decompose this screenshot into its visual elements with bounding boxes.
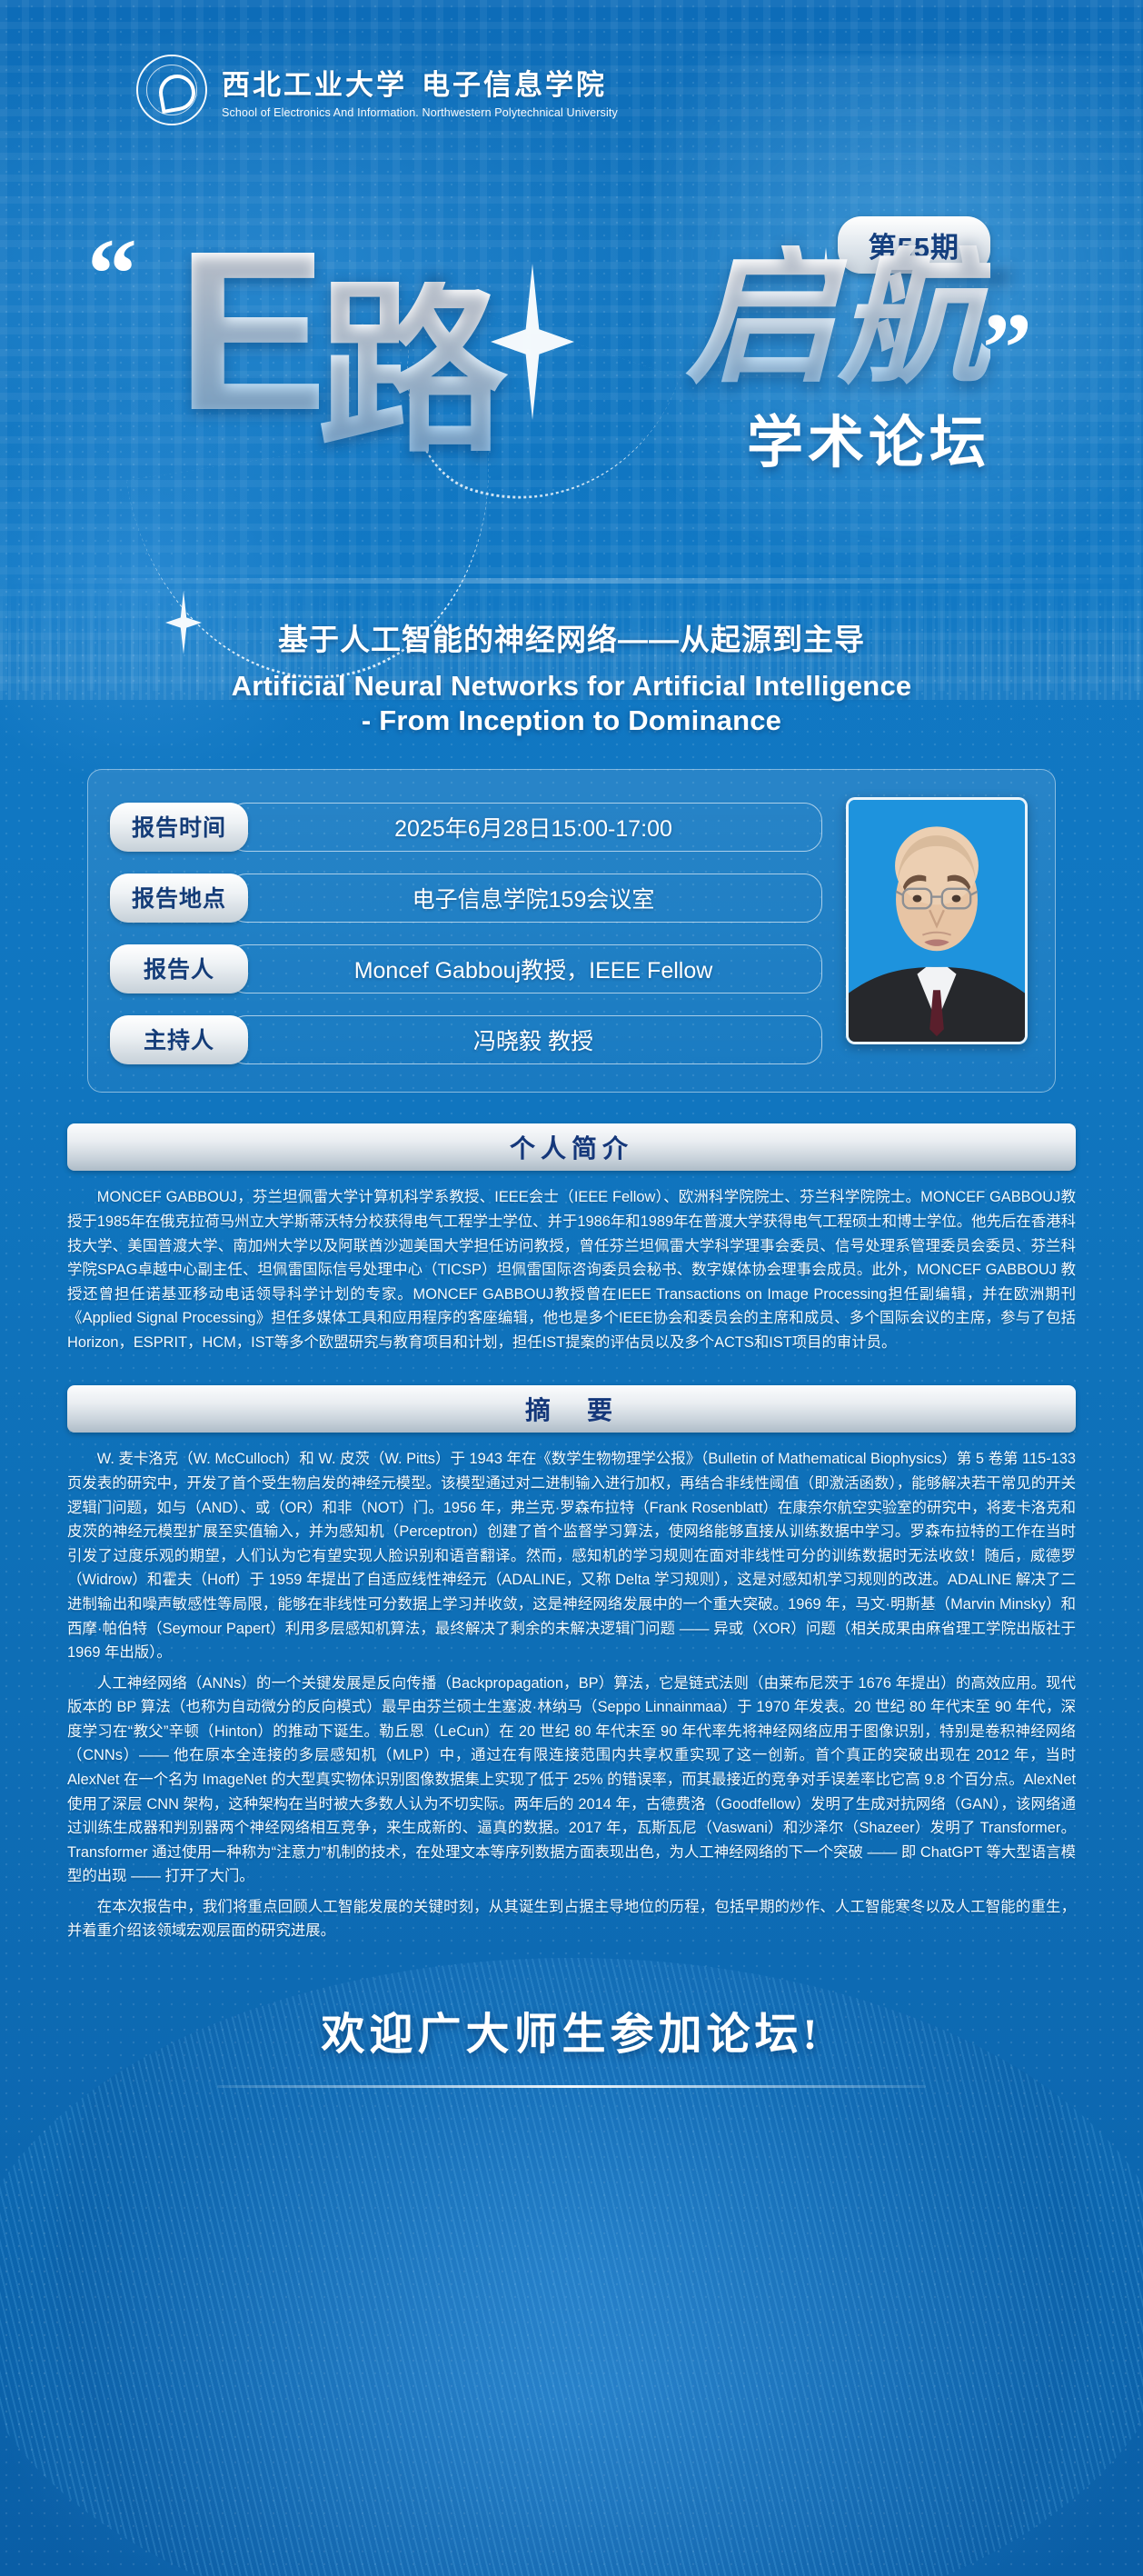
info-row-location: 报告地点 电子信息学院159会议室 <box>110 874 822 923</box>
brand-text-block: 西北工业大学电子信息学院 School of Electronics And I… <box>222 62 618 119</box>
info-value-speaker: Moncef Gabbouj教授，IEEE Fellow <box>228 944 822 993</box>
abstract-body: W. 麦卡洛克（W. McCulloch）和 W. 皮茨（W. Pitts）于 … <box>67 1447 1076 1943</box>
bio-body: MONCEF GABBOUJ，芬兰坦佩雷大学计算机科学系教授、IEEE会士（IE… <box>67 1185 1076 1354</box>
info-label-location: 报告地点 <box>110 874 248 923</box>
info-label-speaker: 报告人 <box>110 944 248 993</box>
bio-heading-text: 个人简介 <box>510 1129 633 1165</box>
bio-paragraph: MONCEF GABBOUJ，芬兰坦佩雷大学计算机科学系教授、IEEE会士（IE… <box>67 1185 1076 1354</box>
info-label-time: 报告时间 <box>110 803 248 852</box>
speaker-portrait <box>846 797 1028 1044</box>
brand-name-cn-row: 西北工业大学电子信息学院 <box>222 62 618 103</box>
hero-word-lu: 路 <box>317 282 508 454</box>
abstract-paragraph-3: 在本次报告中，我们将重点回顾人工智能发展的关键时刻，从其诞生到占据主导地位的历程… <box>67 1895 1076 1943</box>
hero-letter-e: E <box>176 233 323 428</box>
abstract-heading-text: 摘 要 <box>525 1391 618 1427</box>
hero-word-qihang: 启航 <box>685 245 990 391</box>
abstract-section-header: 摘 要 <box>67 1385 1076 1433</box>
info-value-location: 电子信息学院159会议室 <box>228 874 822 923</box>
university-crest-icon <box>136 55 207 125</box>
brand-name-en: School of Electronics And Information. N… <box>222 106 618 119</box>
info-value-time: 2025年6月28日15:00-17:00 <box>228 803 822 852</box>
brand-header: 西北工业大学电子信息学院 School of Electronics And I… <box>0 0 1143 125</box>
lecture-title-block: 基于人工智能的神经网络——从起源到主导 Artificial Neural Ne… <box>0 598 1143 738</box>
lecture-title-en-line1: Artificial Neural Networks for Artificia… <box>73 669 1070 704</box>
bio-section-header: 个人简介 <box>67 1123 1076 1171</box>
brand-school-cn: 电子信息学院 <box>422 69 607 101</box>
abstract-paragraph-1: W. 麦卡洛克（W. McCulloch）和 W. 皮茨（W. Pitts）于 … <box>67 1447 1076 1664</box>
closing-block: 欢迎广大师生参加论坛! <box>0 1998 1143 2088</box>
hero-right-words: 启航 学术论坛 <box>685 245 990 478</box>
info-row-speaker: 报告人 Moncef Gabbouj教授，IEEE Fellow <box>110 944 822 993</box>
closing-divider <box>217 2085 926 2088</box>
brand-university-cn: 西北工业大学 <box>222 69 407 101</box>
poster-root: 西北工业大学电子信息学院 School of Electronics And I… <box>0 0 1143 2576</box>
hero-section: 第55期 “ ” E 路 启航 学术论坛 <box>0 125 1143 598</box>
info-row-host: 主持人 冯晓毅 教授 <box>110 1015 822 1064</box>
lecture-title-en-line2: - From Inception to Dominance <box>73 704 1070 738</box>
hero-forum-label: 学术论坛 <box>685 396 990 478</box>
info-row-time: 报告时间 2025年6月28日15:00-17:00 <box>110 803 822 852</box>
bio-section: 个人简介 MONCEF GABBOUJ，芬兰坦佩雷大学计算机科学系教授、IEEE… <box>67 1123 1076 1354</box>
quote-open-mark: “ <box>87 244 137 304</box>
abstract-paragraph-2: 人工神经网络（ANNs）的一个关键发展是反向传播（Backpropagation… <box>67 1672 1076 1889</box>
info-label-host: 主持人 <box>110 1015 248 1064</box>
abstract-section: 摘 要 W. 麦卡洛克（W. McCulloch）和 W. 皮茨（W. Pitt… <box>67 1385 1076 1943</box>
info-value-host: 冯晓毅 教授 <box>228 1015 822 1064</box>
lecture-title-en: Artificial Neural Networks for Artificia… <box>73 669 1070 739</box>
info-row-list: 报告时间 2025年6月28日15:00-17:00 报告地点 电子信息学院15… <box>110 797 822 1064</box>
lecture-info-card: 报告时间 2025年6月28日15:00-17:00 报告地点 电子信息学院15… <box>87 769 1056 1093</box>
closing-invitation-text: 欢迎广大师生参加论坛! <box>0 1998 1143 2062</box>
lecture-title-cn: 基于人工智能的神经网络——从起源到主导 <box>73 620 1070 661</box>
hero-left-words: E 路 <box>176 233 508 454</box>
